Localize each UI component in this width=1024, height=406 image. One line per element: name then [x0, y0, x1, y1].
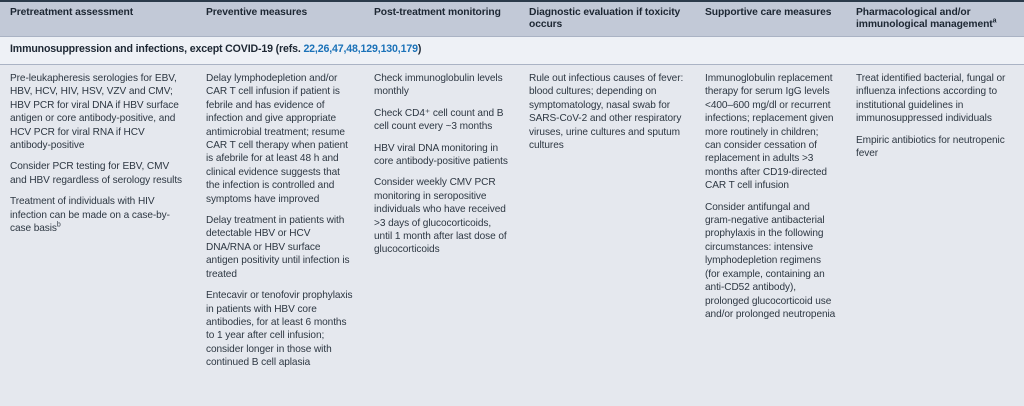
cell-paragraph: Rule out infectious causes of fever: blo… — [529, 72, 686, 152]
cell-paragraph: Consider weekly CMV PCR monitoring in se… — [374, 176, 510, 256]
header-footnote-marker: a — [993, 18, 997, 25]
section-reference-links[interactable]: 22,26,47,48,129,130,179 — [303, 43, 417, 55]
cell-diagnostic-evaluation: Rule out infectious causes of fever: blo… — [519, 65, 695, 406]
cell-paragraph: Check immunoglobulin levels monthly — [374, 72, 510, 99]
cell-pretreatment-assessment: Pre-leukapheresis serologies for EBV, HB… — [0, 65, 196, 406]
section-title: Immunosuppression and infections, except… — [10, 43, 421, 55]
cell-supportive-care-measures: Immunoglobulin replacement therapy for s… — [695, 65, 846, 406]
column-header-label: Supportive care measures — [705, 7, 831, 18]
cell-post-treatment-monitoring: Check immunoglobulin levels monthly Chec… — [364, 65, 519, 406]
guideline-table: Pretreatment assessment Preventive measu… — [0, 0, 1024, 406]
cell-paragraph: Empiric antibiotics for neutropenic feve… — [856, 134, 1015, 161]
column-header-pretreatment-assessment: Pretreatment assessment — [0, 2, 196, 36]
cell-paragraph: Entecavir or tenofovir prophylaxis in pa… — [206, 289, 355, 369]
section-title-close: ) — [418, 43, 421, 55]
column-header-label: Post-treatment monitoring — [374, 7, 501, 18]
cell-paragraph: Immunoglobulin replacement therapy for s… — [705, 72, 837, 193]
table-body-row: Pre-leukapheresis serologies for EBV, HB… — [0, 65, 1024, 406]
cell-footnote-marker: b — [57, 222, 61, 229]
column-header-label: Pretreatment assessment — [10, 7, 133, 18]
cell-paragraph: HBV viral DNA monitoring in core antibod… — [374, 142, 510, 169]
column-header-diagnostic-evaluation: Diagnostic evaluation if toxicity occurs — [519, 2, 695, 36]
column-header-pharmacological-management: Pharmacological and/or immunological man… — [846, 2, 1024, 36]
column-header-label: Diagnostic evaluation if toxicity occurs — [529, 7, 680, 30]
section-title-row: Immunosuppression and infections, except… — [0, 37, 1024, 64]
cell-paragraph: Delay treatment in patients with detecta… — [206, 214, 355, 281]
cell-paragraph: Pre-leukapheresis serologies for EBV, HB… — [10, 72, 187, 152]
column-header-preventive-measures: Preventive measures — [196, 2, 364, 36]
cell-paragraph-text: Treatment of individuals with HIV infect… — [10, 196, 170, 234]
column-header-post-treatment-monitoring: Post-treatment monitoring — [364, 2, 519, 36]
cell-paragraph: Consider PCR testing for EBV, CMV and HB… — [10, 160, 187, 187]
section-title-text: Immunosuppression and infections, except… — [10, 43, 303, 55]
column-header-label: Pharmacological and/or immunological man… — [856, 7, 993, 30]
cell-paragraph: Delay lymphodepletion and/or CAR T cell … — [206, 72, 355, 206]
cell-paragraph: Check CD4⁺ cell count and B cell count e… — [374, 107, 510, 134]
cell-paragraph: Treat identified bacterial, fungal or in… — [856, 72, 1015, 126]
cell-paragraph: Consider antifungal and gram-negative an… — [705, 201, 837, 322]
cell-pharmacological-management: Treat identified bacterial, fungal or in… — [846, 65, 1024, 406]
cell-preventive-measures: Delay lymphodepletion and/or CAR T cell … — [196, 65, 364, 406]
column-header-supportive-care-measures: Supportive care measures — [695, 2, 846, 36]
cell-paragraph: Treatment of individuals with HIV infect… — [10, 195, 187, 235]
table-header-row: Pretreatment assessment Preventive measu… — [0, 2, 1024, 36]
column-header-label: Preventive measures — [206, 7, 307, 18]
